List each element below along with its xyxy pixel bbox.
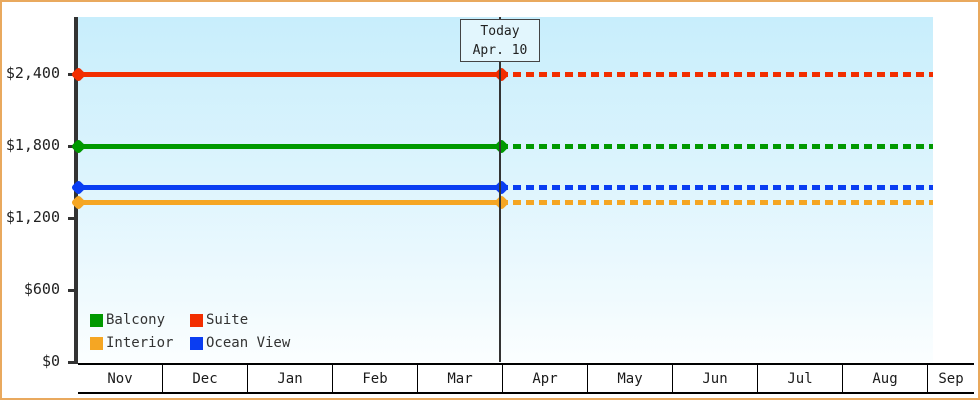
- x-axis-month-cell[interactable]: Feb: [333, 365, 418, 392]
- x-axis-month-cell[interactable]: Dec: [163, 365, 248, 392]
- today-line: [499, 17, 501, 362]
- legend-item-label: Suite: [206, 312, 248, 328]
- series-line-forecast: [500, 144, 933, 149]
- x-axis-month-cell[interactable]: May: [588, 365, 673, 392]
- series-line-forecast: [500, 72, 933, 77]
- x-axis-month-cell[interactable]: Mar: [418, 365, 503, 392]
- y-axis-label: $600: [24, 282, 60, 297]
- series-line-historical: [78, 185, 500, 190]
- x-axis-month-cell[interactable]: Aug: [843, 365, 928, 392]
- today-callout-date: Apr. 10: [461, 41, 539, 60]
- legend-item[interactable]: Suite: [190, 312, 290, 328]
- price-trend-chart: $2,400$1,800$1,200$600$0 Today Apr. 10 B…: [0, 0, 980, 400]
- legend-item[interactable]: Balcony: [90, 312, 190, 328]
- y-axis-label: $1,800: [6, 138, 60, 153]
- x-axis-month-cell[interactable]: Nov: [78, 365, 163, 392]
- legend-color-swatch: [90, 314, 103, 327]
- y-axis-label: $2,400: [6, 66, 60, 81]
- today-callout: Today Apr. 10: [460, 19, 540, 62]
- y-axis-label: $1,200: [6, 210, 60, 225]
- legend-color-swatch: [90, 337, 103, 350]
- today-callout-title: Today: [461, 22, 539, 41]
- legend-color-swatch: [190, 337, 203, 350]
- y-axis-tick: [68, 217, 78, 220]
- y-axis-tick: [68, 361, 78, 364]
- series-line-forecast: [500, 200, 933, 205]
- legend-item-label: Interior: [106, 335, 173, 351]
- y-axis-label: $0: [42, 354, 60, 369]
- legend-item[interactable]: Interior: [90, 335, 190, 351]
- x-axis-month-cell[interactable]: Jun: [673, 365, 758, 392]
- series-line-historical: [78, 72, 500, 77]
- x-axis: NovDecJanFebMarAprMayJunJulAugSep: [78, 363, 974, 394]
- x-axis-month-cell[interactable]: Jan: [248, 365, 333, 392]
- series-line-historical: [78, 144, 500, 149]
- legend-color-swatch: [190, 314, 203, 327]
- legend-item-label: Ocean View: [206, 335, 290, 351]
- y-axis-tick: [68, 289, 78, 292]
- x-axis-month-cell[interactable]: Jul: [758, 365, 843, 392]
- chart-legend: BalconySuiteInteriorOcean View: [90, 312, 290, 351]
- x-axis-month-cell[interactable]: Sep: [928, 365, 974, 392]
- series-line-forecast: [500, 185, 933, 190]
- x-axis-month-cell[interactable]: Apr: [503, 365, 588, 392]
- legend-item-label: Balcony: [106, 312, 165, 328]
- legend-item[interactable]: Ocean View: [190, 335, 290, 351]
- series-line-historical: [78, 200, 500, 205]
